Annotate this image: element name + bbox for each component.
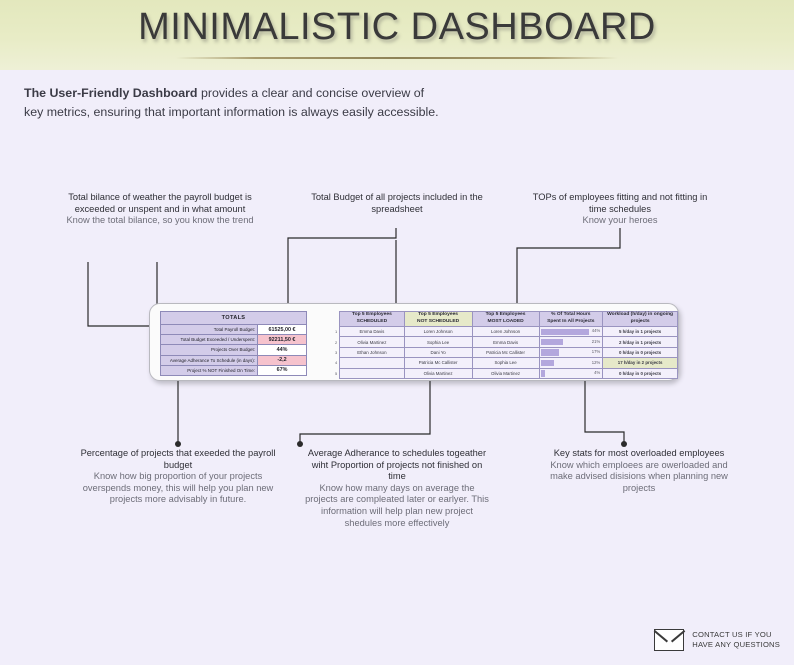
- annotation-bottom-left-sub: Know how big proportion of your projects…: [78, 471, 278, 506]
- annotation-top-mid-title: Total Budget of all projects included in…: [306, 192, 488, 215]
- pct-bar: [541, 339, 564, 345]
- row-number-spacer: [330, 312, 340, 327]
- totals-row-label: Total Payroll Budget:: [161, 325, 258, 335]
- pct-bar: [541, 360, 554, 366]
- cell-most-loaded: Sophia Lee: [472, 358, 539, 368]
- row-number: 1: [330, 327, 340, 337]
- table-row[interactable]: Total Budget Exceeded / Underspent: 9221…: [161, 335, 307, 345]
- totals-table-body: TOTALS Total Payroll Budget: 61525,00 € …: [161, 312, 307, 376]
- annotation-bottom-right-sub: Know which emploees are owerloaded and m…: [546, 460, 732, 495]
- annotation-bottom-left-title: Percentage of projects that exeeded the …: [78, 448, 278, 471]
- col-header-line2: MOST LOADED: [473, 319, 539, 326]
- cell-scheduled: [340, 358, 404, 368]
- pct-bar: [541, 329, 589, 335]
- totals-row-label: Average Adherance To Schedule (in days):: [161, 355, 258, 365]
- cell-workload: 5 h/day in 1 projects: [603, 327, 678, 337]
- col-header-line2: SCHEDULED: [340, 319, 403, 326]
- table-row[interactable]: 5Olivia MartinezOlivia Martinez4%0 h/day…: [330, 368, 678, 378]
- col-header-not-scheduled[interactable]: Top 5 Employees NOT SCHEDULED: [404, 312, 472, 327]
- cell-not-scheduled: Patricia Mc Callister: [404, 358, 472, 368]
- pct-label: 12%: [592, 360, 600, 365]
- contact-footer[interactable]: CONTACT US IF YOU HAVE ANY QUESTIONS: [654, 629, 780, 651]
- annotation-bottom-mid: Average Adherance to schedules togeather…: [302, 448, 492, 529]
- cell-workload: 2 h/day in 1 projects: [603, 337, 678, 347]
- row-number: 3: [330, 347, 340, 357]
- table-row[interactable]: 1Emma DavisLoren JohnsonLoren Johnson44%…: [330, 327, 678, 337]
- contact-text: CONTACT US IF YOU HAVE ANY QUESTIONS: [692, 630, 780, 651]
- col-header-line1: Top 5 Employees: [473, 312, 539, 319]
- cell-workload: 0 h/day in 0 projects: [603, 347, 678, 357]
- pct-bar: [541, 370, 545, 376]
- dashboard-card[interactable]: TOTALS Total Payroll Budget: 61525,00 € …: [149, 303, 679, 381]
- intro-bold-text: The User-Friendly Dashboard: [24, 86, 198, 100]
- envelope-icon: [654, 629, 684, 651]
- annotation-top-left-title: Total bilance of weather the payroll bud…: [62, 192, 258, 215]
- cell-workload: 0 h/day in 0 projects: [603, 368, 678, 378]
- table-row[interactable]: 2Olivia MartinezSophia LeeEmma Davis21%2…: [330, 337, 678, 347]
- col-header-line2: Spent In All Projects: [540, 319, 603, 326]
- totals-header-cell: TOTALS: [161, 312, 307, 325]
- col-header-workload[interactable]: Workload (h/day) in ongoing projects: [603, 312, 678, 327]
- cell-scheduled: [340, 368, 404, 378]
- title-underline: [176, 57, 618, 59]
- totals-header-row: TOTALS: [161, 312, 307, 325]
- cell-pct-total-hours: 4%: [539, 368, 603, 378]
- annotation-top-right-sub: Know your heroes: [530, 215, 710, 227]
- annotation-bottom-right: Key stats for most overloaded employees …: [546, 448, 732, 494]
- contact-line2: HAVE ANY QUESTIONS: [692, 640, 780, 650]
- cell-pct-total-hours: 12%: [539, 358, 603, 368]
- pct-label: 44%: [592, 328, 600, 333]
- col-header-most-loaded[interactable]: Top 5 Employees MOST LOADED: [472, 312, 539, 327]
- cell-most-loaded: Patricia Mc Callister: [472, 347, 539, 357]
- employees-table-body: 1Emma DavisLoren JohnsonLoren Johnson44%…: [330, 327, 678, 379]
- cell-workload: 17 h/day in 2 projects: [603, 358, 678, 368]
- cell-pct-total-hours: 21%: [539, 337, 603, 347]
- row-number: 5: [330, 368, 340, 378]
- employees-header-row: Top 5 Employees SCHEDULED Top 5 Employee…: [330, 312, 678, 327]
- annotation-bottom-mid-title: Average Adherance to schedules togeather…: [302, 448, 492, 483]
- cell-scheduled: Olivia Martinez: [340, 337, 404, 347]
- annotation-top-mid: Total Budget of all projects included in…: [306, 192, 488, 215]
- cell-pct-total-hours: 17%: [539, 347, 603, 357]
- annotation-top-left: Total bilance of weather the payroll bud…: [62, 192, 258, 227]
- totals-table[interactable]: TOTALS Total Payroll Budget: 61525,00 € …: [160, 311, 307, 376]
- totals-row-label: Project % NOT Finished On Time:: [161, 365, 258, 375]
- page-title: MINIMALISTIC DASHBOARD: [0, 6, 794, 49]
- cell-scheduled: Ethan Johnson: [340, 347, 404, 357]
- totals-row-value: 44%: [258, 345, 307, 355]
- totals-row-value: 67%: [258, 365, 307, 375]
- col-header-line1: Workload (h/day) in ongoing: [603, 312, 677, 319]
- cell-most-loaded: Loren Johnson: [472, 327, 539, 337]
- pct-label: 4%: [594, 370, 600, 375]
- table-row[interactable]: Projects Over Budget: 44%: [161, 345, 307, 355]
- cell-scheduled: Emma Davis: [340, 327, 404, 337]
- row-number: 2: [330, 337, 340, 347]
- table-row[interactable]: 4Patricia Mc CallisterSophia Lee12%17 h/…: [330, 358, 678, 368]
- annotation-top-right: TOPs of employees fitting and not fittin…: [530, 192, 710, 227]
- pct-label: 17%: [592, 349, 600, 354]
- cell-not-scheduled: Loren Johnson: [404, 327, 472, 337]
- contact-line1: CONTACT US IF YOU: [692, 630, 780, 640]
- employees-table[interactable]: Top 5 Employees SCHEDULED Top 5 Employee…: [330, 311, 678, 379]
- table-row[interactable]: Average Adherance To Schedule (in days):…: [161, 355, 307, 365]
- pct-bar: [541, 349, 560, 355]
- annotation-top-right-title: TOPs of employees fitting and not fittin…: [530, 192, 710, 215]
- col-header-line1: Top 5 Employees: [405, 312, 472, 319]
- table-row[interactable]: Total Payroll Budget: 61525,00 €: [161, 325, 307, 335]
- cell-pct-total-hours: 44%: [539, 327, 603, 337]
- cell-most-loaded: Emma Davis: [472, 337, 539, 347]
- cell-not-scheduled: Olivia Martinez: [404, 368, 472, 378]
- totals-row-label: Total Budget Exceeded / Underspent:: [161, 335, 258, 345]
- totals-row-value: -2,2: [258, 355, 307, 365]
- annotation-bottom-right-title: Key stats for most overloaded employees: [546, 448, 732, 460]
- row-number: 4: [330, 358, 340, 368]
- totals-row-value: 92211,50 €: [258, 335, 307, 345]
- table-row[interactable]: 3Ethan JohnsonDani YoPatricia Mc Callist…: [330, 347, 678, 357]
- col-header-line1: Top 5 Employees: [340, 312, 403, 319]
- col-header-scheduled[interactable]: Top 5 Employees SCHEDULED: [340, 312, 404, 327]
- totals-row-value: 61525,00 €: [258, 325, 307, 335]
- table-row[interactable]: Project % NOT Finished On Time: 67%: [161, 365, 307, 375]
- page-header: MINIMALISTIC DASHBOARD: [0, 0, 794, 70]
- intro-paragraph: The User-Friendly Dashboard provides a c…: [24, 84, 444, 122]
- totals-row-label: Projects Over Budget:: [161, 345, 258, 355]
- col-header-line2: NOT SCHEDULED: [405, 319, 472, 326]
- cell-not-scheduled: Sophia Lee: [404, 337, 472, 347]
- col-header-pct-total-hours[interactable]: % Of Total Hours Spent In All Projects: [539, 312, 603, 327]
- cell-not-scheduled: Dani Yo: [404, 347, 472, 357]
- pct-label: 21%: [592, 339, 600, 344]
- annotation-bottom-left: Percentage of projects that exeeded the …: [78, 448, 278, 506]
- cell-most-loaded: Olivia Martinez: [472, 368, 539, 378]
- annotation-bottom-mid-sub: Know how many days on average the projec…: [302, 483, 492, 529]
- col-header-line2: projects: [603, 319, 677, 326]
- col-header-line1: % Of Total Hours: [540, 312, 603, 319]
- employees-table-head: Top 5 Employees SCHEDULED Top 5 Employee…: [330, 312, 678, 327]
- annotation-top-left-sub: Know the total bilance, so you know the …: [62, 215, 258, 227]
